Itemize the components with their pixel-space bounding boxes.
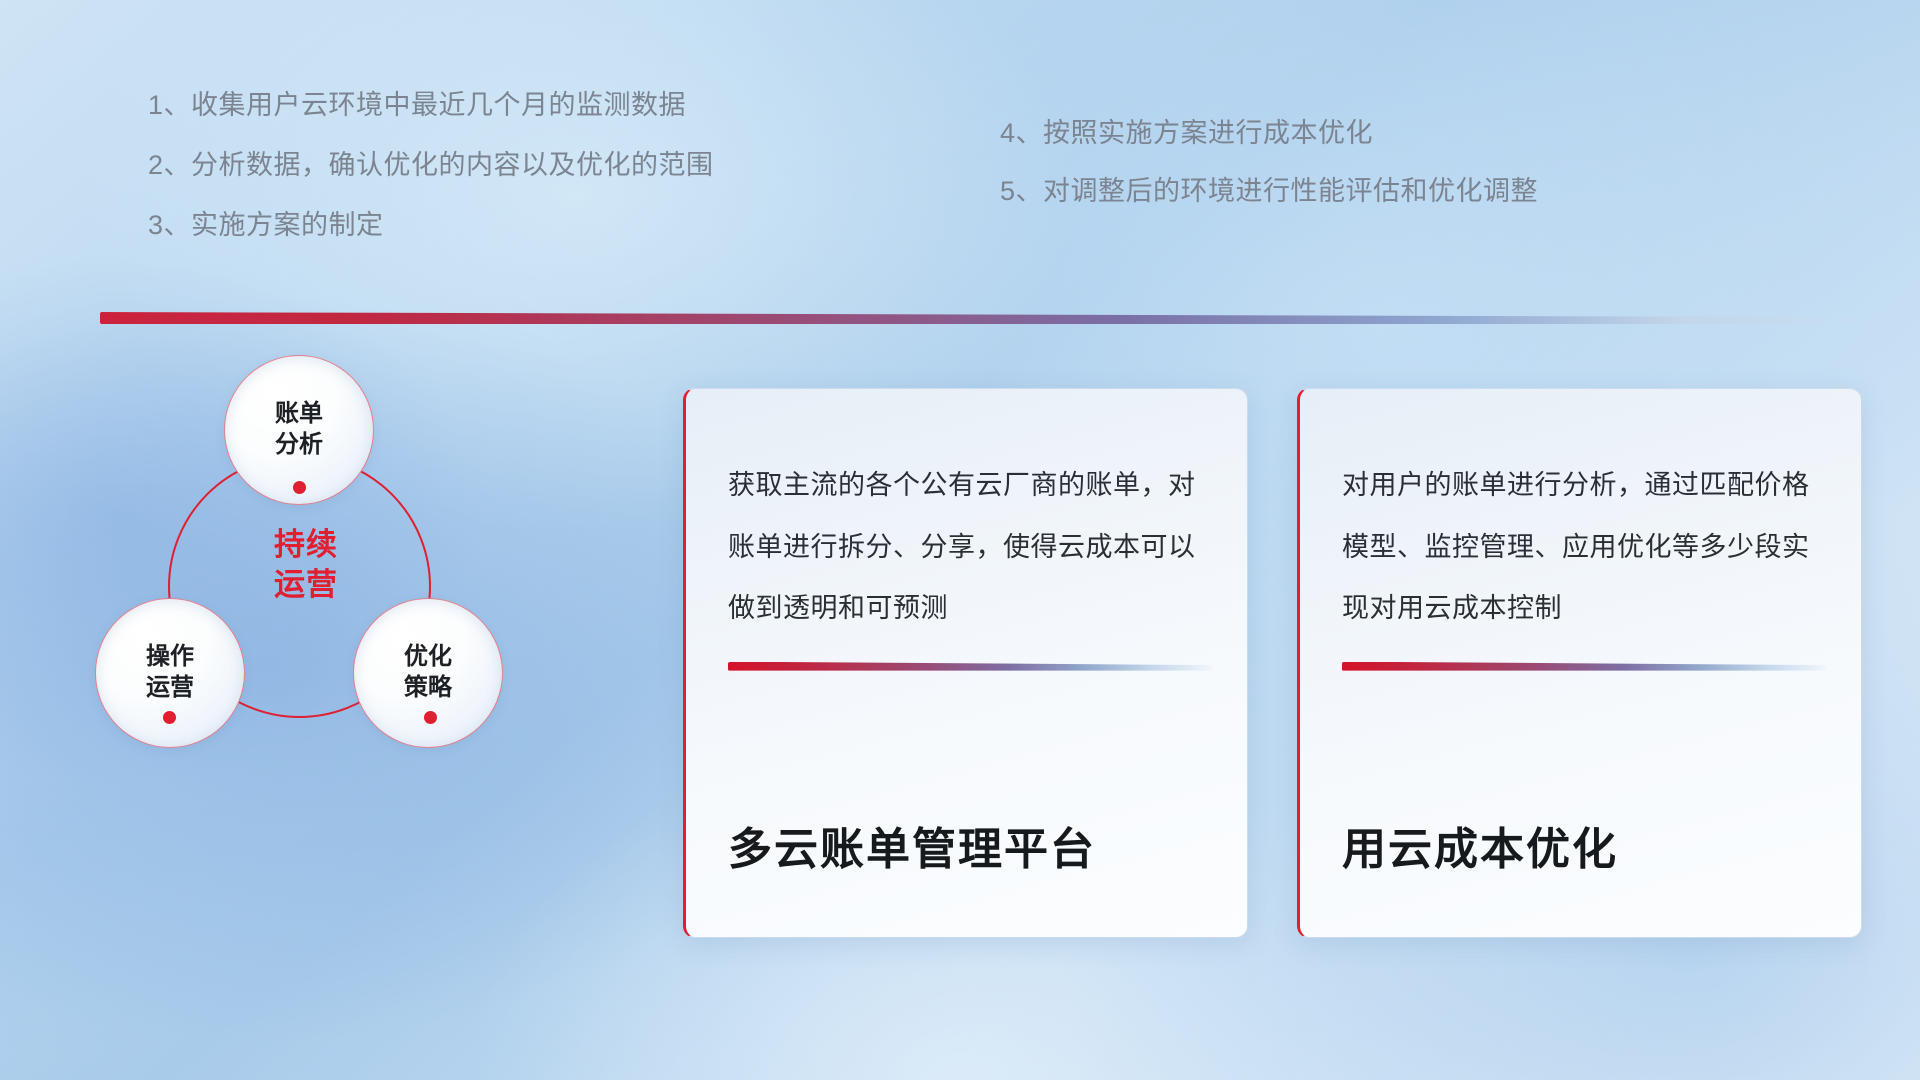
card-divider-line <box>1342 662 1826 671</box>
step-item: 2、分析数据，确认优化的内容以及优化的范围 <box>148 152 714 179</box>
card-title: 多云账单管理平台 <box>728 813 1207 877</box>
slide-canvas: 1、收集用户云环境中最近几个月的监测数据 2、分析数据，确认优化的内容以及优化的… <box>0 0 1920 1080</box>
feature-card-cloud-cost-optimization[interactable]: 对用户的账单进行分析，通过匹配价格模型、监控管理、应用优化等多少段实现对用云成本… <box>1297 388 1862 938</box>
venn-bubble-label: 账单 分析 <box>275 399 323 460</box>
venn-node-dot-right <box>424 711 437 724</box>
venn-diagram: 账单 分析 操作 运营 优化 策略 持续 运营 <box>95 355 565 755</box>
card-divider-line <box>728 662 1212 671</box>
venn-node-dot-top <box>293 481 306 494</box>
card-body-text: 对用户的账单进行分析，通过匹配价格模型、监控管理、应用优化等多少段实现对用云成本… <box>1342 455 1821 640</box>
venn-bubble-label: 优化 策略 <box>404 642 452 703</box>
section-divider-line <box>100 312 1860 324</box>
feature-card-multicloud-billing[interactable]: 获取主流的各个公有云厂商的账单，对账单进行拆分、分享，使得云成本可以做到透明和可… <box>683 388 1248 938</box>
venn-bubble-operations[interactable]: 操作 运营 <box>95 598 245 748</box>
steps-left-column: 1、收集用户云环境中最近几个月的监测数据 2、分析数据，确认优化的内容以及优化的… <box>148 92 714 272</box>
venn-center-label: 持续 运营 <box>246 525 366 606</box>
venn-bubble-label: 操作 运营 <box>146 642 194 703</box>
step-item: 5、对调整后的环境进行性能评估和优化调整 <box>1000 178 1538 205</box>
steps-right-column: 4、按照实施方案进行成本优化 5、对调整后的环境进行性能评估和优化调整 <box>1000 120 1538 236</box>
step-item: 4、按照实施方案进行成本优化 <box>1000 120 1538 147</box>
step-item: 3、实施方案的制定 <box>148 212 714 239</box>
venn-bubble-optimization-strategy[interactable]: 优化 策略 <box>353 598 503 748</box>
card-body-text: 获取主流的各个公有云厂商的账单，对账单进行拆分、分享，使得云成本可以做到透明和可… <box>728 455 1207 640</box>
step-item: 1、收集用户云环境中最近几个月的监测数据 <box>148 92 714 119</box>
venn-node-dot-left <box>163 711 176 724</box>
card-title: 用云成本优化 <box>1342 813 1821 877</box>
